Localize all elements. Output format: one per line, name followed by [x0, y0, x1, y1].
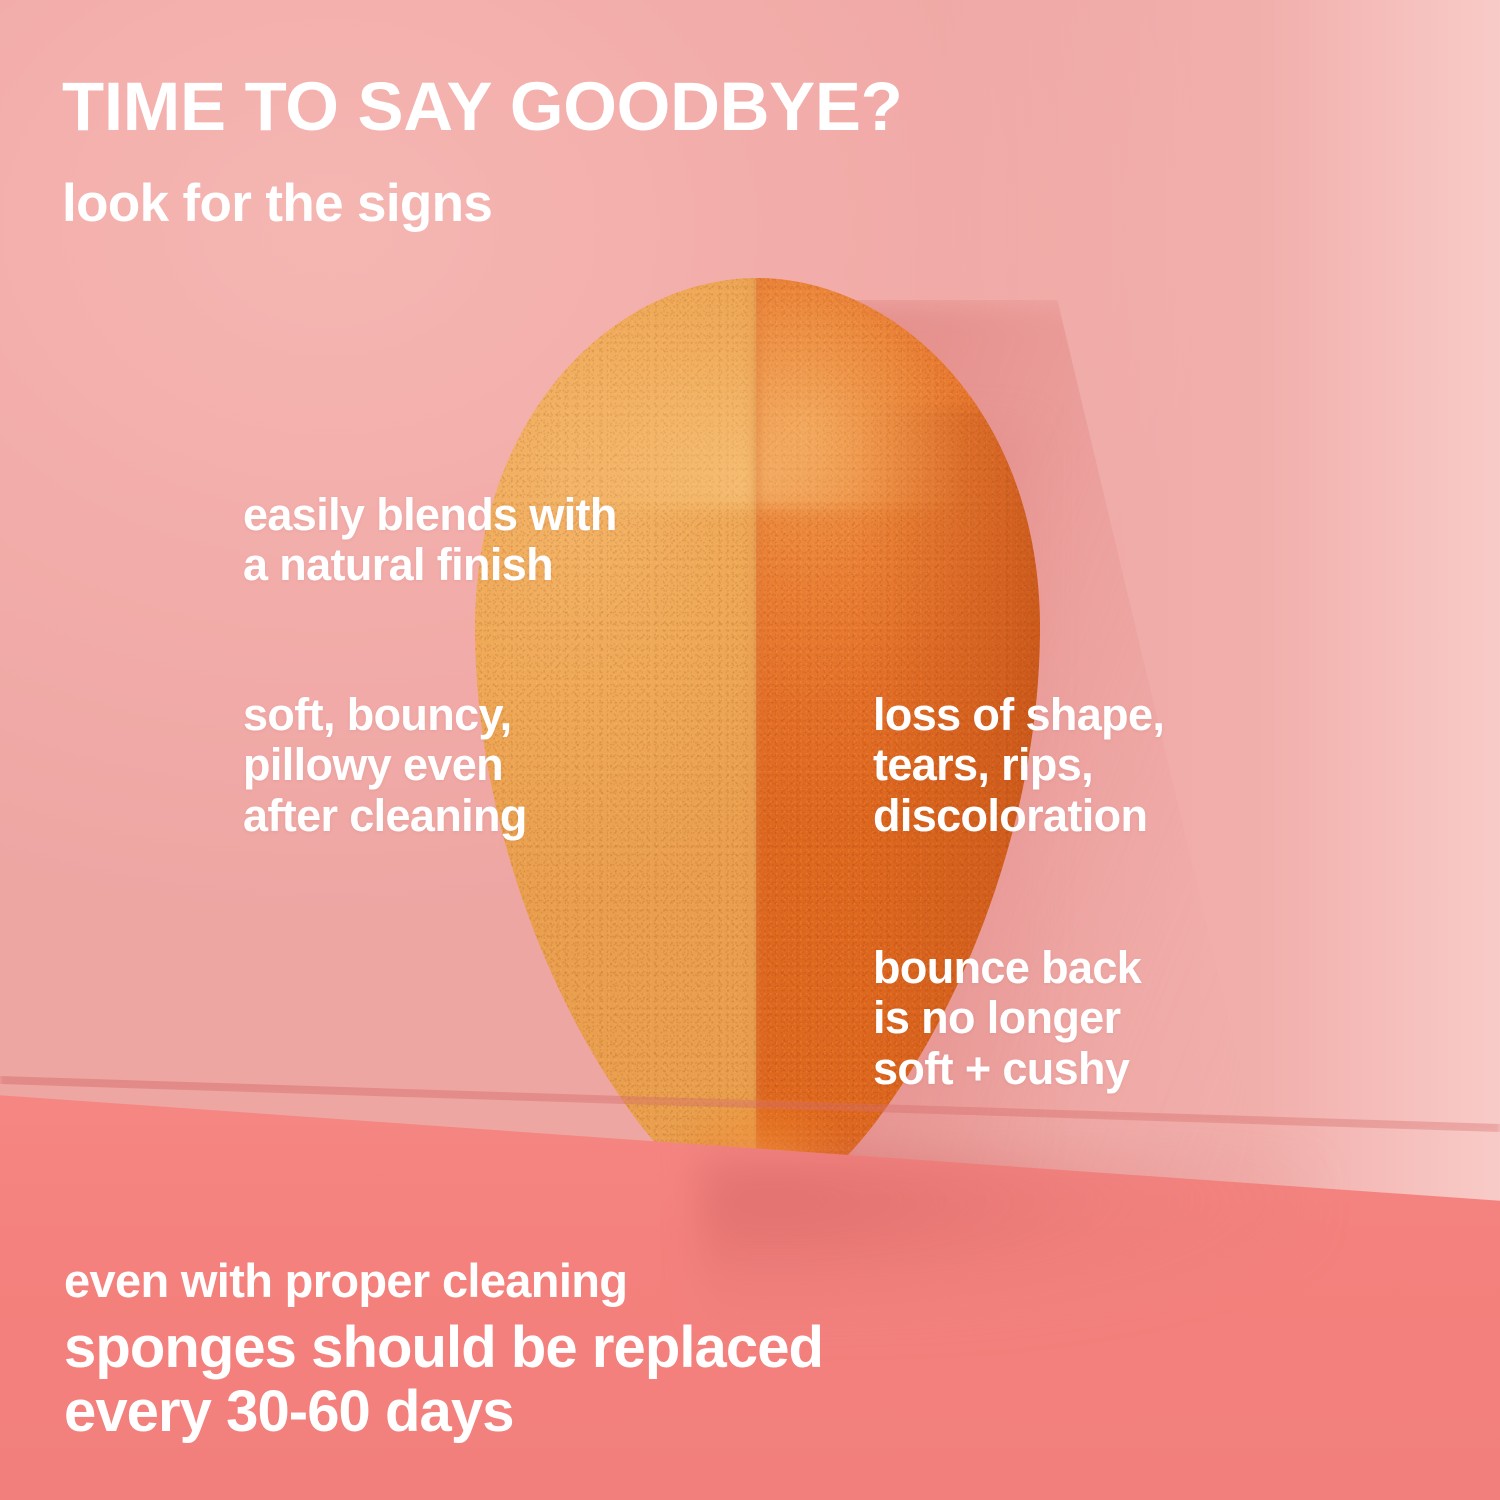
page-title: TIME TO SAY GOODBYE?	[62, 72, 903, 141]
callout-bounce-back: bounce back is no longer soft + cushy	[873, 943, 1141, 1094]
callout-loss-of-shape: loss of shape, tears, rips, discoloratio…	[873, 690, 1164, 841]
sponge-top-highlight	[535, 278, 955, 508]
page-subtitle: look for the signs	[62, 176, 492, 232]
footer-replacement-advice: sponges should be replaced every 30-60 d…	[64, 1316, 823, 1444]
sponge-center-ridge	[747, 278, 765, 1213]
sponge-floor-shadow	[700, 1150, 1320, 1330]
footer-caption: even with proper cleaning	[64, 1256, 627, 1306]
infographic-poster: TIME TO SAY GOODBYE? look for the signs …	[0, 0, 1500, 1500]
callout-soft-bouncy: soft, bouncy, pillowy even after cleanin…	[243, 690, 527, 841]
callout-easily-blends: easily blends with a natural finish	[243, 490, 617, 591]
